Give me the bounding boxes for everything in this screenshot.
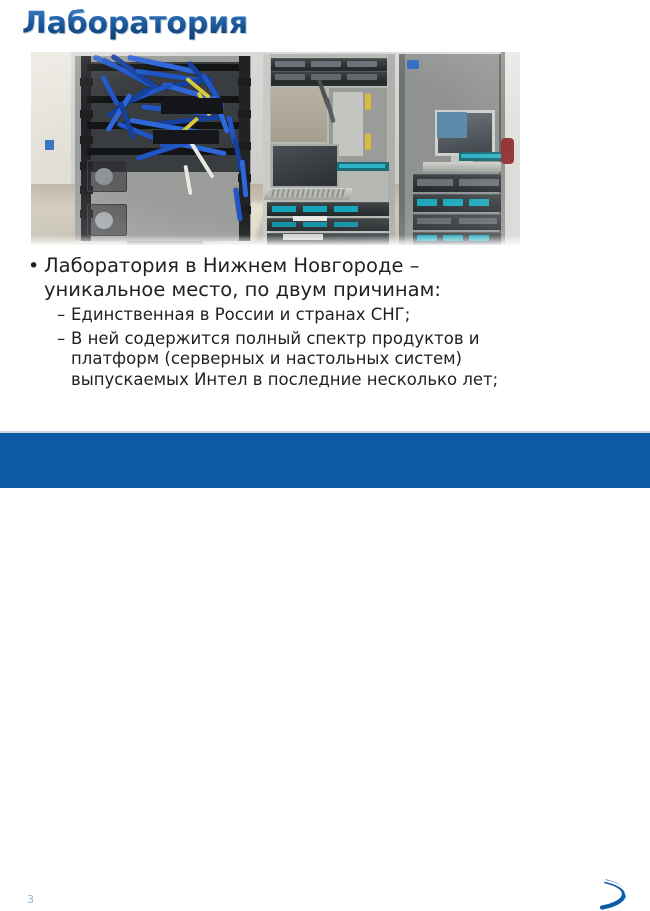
bullet-glyph: • [28,254,44,278]
page-number: 3 [27,893,34,906]
slide-body: • Лаборатория в Нижнем Новгороде – уника… [28,254,608,390]
dash-glyph: – [57,329,71,350]
slide: Лаборатория Лаборатория [0,0,650,488]
page-title: Лаборатория [22,6,248,41]
photo-canvas [31,52,520,245]
bullet-level1-line1-text: Лаборатория в Нижнем Новгороде – [44,254,608,278]
bullet-level2-item-2-line-2: платформ (серверных и настольных систем) [71,349,608,370]
bullet-level2-item-1: – Единственная в России и странах СНГ; [57,305,608,326]
bullet-level2-item-2: – В ней содержится полный спектр продукт… [57,329,608,391]
svg-text:intel: intel [555,885,596,905]
footer-bar: 3 intel [0,433,650,488]
bullet-level2-item-2-line-1: В ней содержится полный спектр продуктов… [71,329,608,350]
bullet-level2-item-2-line-3: выпускаемых Интел в последние несколько … [71,370,608,391]
bullet-level2-item-2-lines: В ней содержится полный спектр продуктов… [71,329,608,391]
bullet-level1-line2-text: уникальное место, по двум причинам: [44,278,608,302]
bullet-level1-line2: уникальное место, по двум причинам: [28,278,608,302]
dash-glyph: – [57,305,71,326]
intel-logo: intel [536,877,628,911]
bullet-level1-line1: • Лаборатория в Нижнем Новгороде – [28,254,608,278]
bullet-level2-item-1-line-1: Единственная в России и странах СНГ; [71,305,608,326]
lab-server-racks-photo [31,52,520,245]
